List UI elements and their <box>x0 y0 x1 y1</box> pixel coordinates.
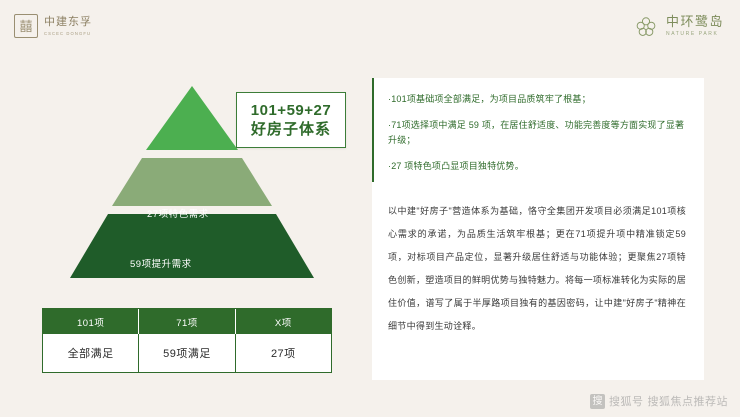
summary-table: 101项 71项 X项 全部满足 59项满足 27项 <box>42 308 332 373</box>
table-header-cell: 101项 <box>43 309 138 334</box>
callout-line-2: 好房子体系 <box>251 120 331 139</box>
slide-root: 囍 中建东孚 CSCEC DONGFU 中环鹭岛 NATURE PARK <box>0 0 740 417</box>
flower-icon <box>633 14 659 40</box>
watermark-text: 搜狐号 <box>609 393 644 409</box>
pyramid-tier-3 <box>70 214 314 278</box>
pyramid-tier-2-label: 59项提升需求 <box>130 256 192 270</box>
sohu-icon: 搜 <box>590 394 605 409</box>
table-header-cell: 71项 <box>138 309 234 334</box>
seal-icon: 囍 <box>14 14 38 38</box>
brand-logo-right-cn: 中环鹭岛 <box>666 15 724 29</box>
callout-line-1: 101+59+27 <box>251 101 331 120</box>
bullet-item: ·71项选择项中满足 59 项，在居住舒适度、功能完善度等方面实现了显著升级； <box>388 118 688 148</box>
table-header-row: 101项 71项 X项 <box>43 309 331 334</box>
table-cell: 全部满足 <box>43 334 138 372</box>
brand-logo-left-en: CSCEC DONGFU <box>44 30 92 37</box>
bullet-panel: ·101项基础项全部满足，为项目品质筑牢了根基； ·71项选择项中满足 59 项… <box>372 78 704 186</box>
table-cell: 27项 <box>235 334 331 372</box>
brand-logo-right-text: 中环鹭岛 NATURE PARK <box>666 15 724 39</box>
table-cell: 59项满足 <box>138 334 234 372</box>
description-panel: 以中建"好房子"营造体系为基础，恪守全集团开发项目必须满足101项核心需求的承诺… <box>372 182 704 380</box>
watermark-text-secondary: 搜狐焦点推荐站 <box>648 393 729 409</box>
bullet-item: ·27 项特色项凸显项目独特优势。 <box>388 159 688 174</box>
brand-logo-right: 中环鹭岛 NATURE PARK <box>633 14 724 40</box>
pyramid-tier-1 <box>146 86 238 150</box>
pyramid-tier-2 <box>112 158 272 206</box>
pyramid-tier-1-label: 27项特色需求 <box>147 206 209 220</box>
watermark: 搜 搜狐号 搜狐焦点推荐站 <box>590 393 728 409</box>
description-paragraph: 以中建"好房子"营造体系为基础，恪守全集团开发项目必须满足101项核心需求的承诺… <box>388 200 686 338</box>
bullet-item: ·101项基础项全部满足，为项目品质筑牢了根基； <box>388 92 688 107</box>
brand-logo-left-text: 中建东孚 CSCEC DONGFU <box>44 16 92 37</box>
brand-logo-right-en: NATURE PARK <box>666 30 724 39</box>
callout-box: 101+59+27 好房子体系 <box>236 92 346 148</box>
brand-logo-left: 囍 中建东孚 CSCEC DONGFU <box>14 14 92 38</box>
table-row: 全部满足 59项满足 27项 <box>43 334 331 372</box>
brand-logo-left-cn: 中建东孚 <box>44 16 92 28</box>
table-header-cell: X项 <box>235 309 331 334</box>
